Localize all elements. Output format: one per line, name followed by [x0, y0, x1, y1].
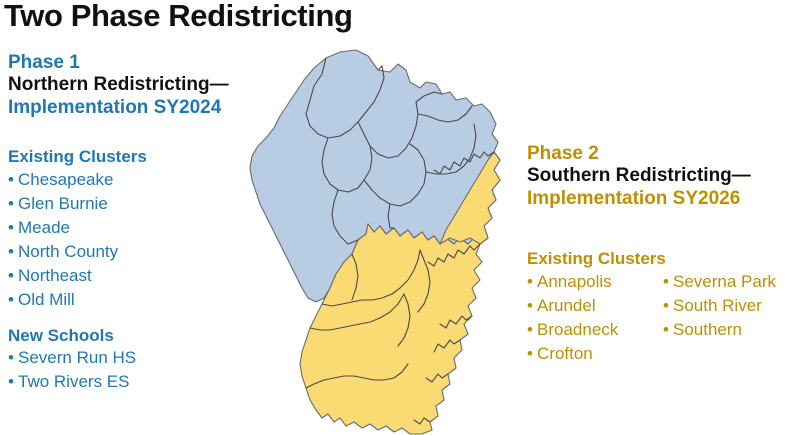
- list-item-label: North County: [18, 242, 118, 261]
- list-item: •Glen Burnie: [8, 192, 147, 216]
- bullet-icon: •: [527, 294, 537, 318]
- list-item-label: Severna Park: [673, 272, 776, 291]
- list-item-label: Severn Run HS: [18, 348, 136, 367]
- phase-2-lists: Existing Clusters •Annapolis •Arundel •B…: [527, 248, 799, 366]
- list-item: •Severn Run HS: [8, 346, 147, 370]
- phase-2-existing-clusters-title: Existing Clusters: [527, 248, 799, 270]
- map-svg: [244, 48, 510, 435]
- bullet-icon: •: [8, 370, 18, 394]
- list-item-label: South River: [673, 296, 762, 315]
- phase-2-cluster-columns: •Annapolis •Arundel •Broadneck •Crofton …: [527, 270, 799, 367]
- list-group-spacer: [8, 313, 147, 325]
- list-item: •Old Mill: [8, 288, 147, 312]
- phase-1-label: Phase 1: [8, 52, 229, 74]
- bullet-icon: •: [8, 216, 18, 240]
- list-item: •South River: [663, 294, 799, 318]
- list-item-label: Chesapeake: [18, 170, 113, 189]
- list-item-label: Meade: [18, 218, 70, 237]
- bullet-icon: •: [527, 342, 537, 366]
- list-item: •Meade: [8, 216, 147, 240]
- list-item: •Severna Park: [663, 270, 799, 294]
- bullet-icon: •: [527, 270, 537, 294]
- list-item-label: Crofton: [537, 344, 593, 363]
- bullet-icon: •: [8, 346, 18, 370]
- list-item-label: Arundel: [537, 296, 596, 315]
- list-item: •Southern: [663, 318, 799, 342]
- list-item: •Crofton: [527, 342, 663, 366]
- bullet-icon: •: [8, 168, 18, 192]
- anne-arundel-county-map: [244, 48, 510, 435]
- phase-2-implementation: Implementation SY2026: [527, 188, 751, 210]
- phase-2-subtitle: Southern Redistricting—: [527, 165, 751, 187]
- phase-1-implementation: Implementation SY2024: [8, 97, 229, 119]
- bullet-icon: •: [8, 192, 18, 216]
- phase-2-cluster-column-left: •Annapolis •Arundel •Broadneck •Crofton: [527, 270, 663, 367]
- list-item-label: Northeast: [18, 266, 92, 285]
- phase-1-subtitle: Northern Redistricting—: [8, 74, 229, 96]
- bullet-icon: •: [8, 288, 18, 312]
- bullet-icon: •: [663, 270, 673, 294]
- bullet-icon: •: [8, 240, 18, 264]
- bullet-icon: •: [527, 318, 537, 342]
- list-item: •Broadneck: [527, 318, 663, 342]
- phase-2-cluster-column-right: •Severna Park •South River •Southern: [663, 270, 799, 367]
- list-item-label: Southern: [673, 320, 742, 339]
- phase-1-lists: Existing Clusters •Chesapeake •Glen Burn…: [8, 146, 147, 395]
- list-item-label: Annapolis: [537, 272, 612, 291]
- page-title: Two Phase Redistricting: [4, 0, 353, 34]
- bullet-icon: •: [8, 264, 18, 288]
- list-item: •Arundel: [527, 294, 663, 318]
- list-item: •Two Rivers ES: [8, 370, 147, 394]
- list-item-label: Broadneck: [537, 320, 618, 339]
- bullet-icon: •: [663, 318, 673, 342]
- list-item-label: Old Mill: [18, 290, 75, 309]
- phase-1-new-schools-title: New Schools: [8, 325, 147, 347]
- list-item: •Annapolis: [527, 270, 663, 294]
- phase-2-heading-block: Phase 2 Southern Redistricting— Implemen…: [527, 143, 751, 210]
- list-item: •Northeast: [8, 264, 147, 288]
- list-item: •North County: [8, 240, 147, 264]
- bullet-icon: •: [663, 294, 673, 318]
- phase-1-existing-clusters-title: Existing Clusters: [8, 146, 147, 168]
- list-item-label: Two Rivers ES: [18, 372, 129, 391]
- slide-canvas: Two Phase Redistricting Phase 1 Northern…: [0, 0, 799, 435]
- phase-1-heading-block: Phase 1 Northern Redistricting— Implemen…: [8, 52, 229, 119]
- list-item: •Chesapeake: [8, 168, 147, 192]
- phase-2-label: Phase 2: [527, 143, 751, 165]
- list-item-label: Glen Burnie: [18, 194, 108, 213]
